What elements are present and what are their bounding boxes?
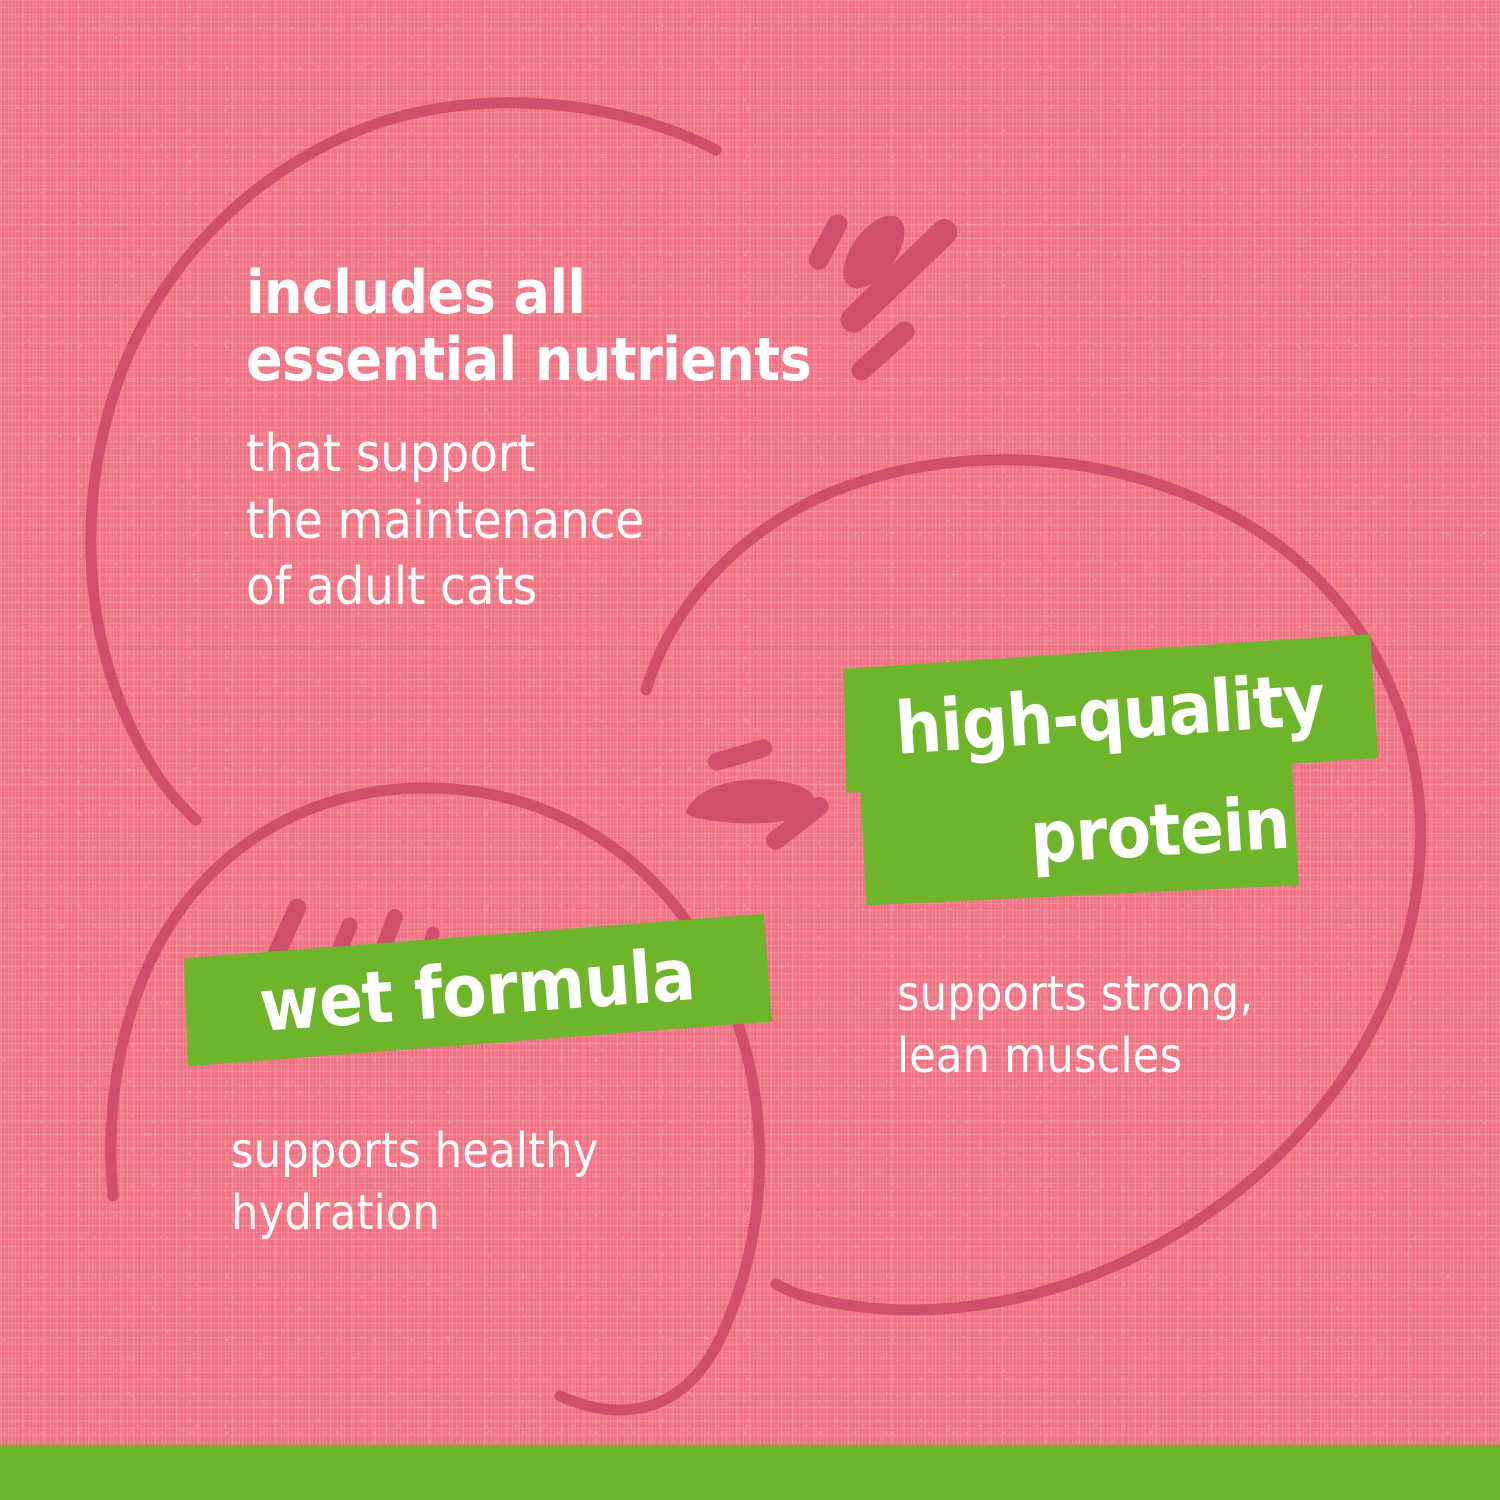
circle-bottom-left-icon [111,788,760,1410]
badge-high-quality-protein: high-quality protein [840,640,1380,910]
bottom-green-bar [0,1445,1500,1500]
benefit-hydration-text-block: supports healthy hydration [231,1120,661,1245]
badge-wet-formula: wet formula [184,930,774,1070]
benefit-nutrients-text-block: includes all essential nutrients that su… [246,243,866,638]
infographic-canvas: includes all essential nutrients that su… [0,0,1500,1500]
badge-protein-line2: protein [860,760,1299,905]
benefit-nutrients-headline: includes all essential nutrients [246,260,866,394]
badge-wet-formula-block: wet formula [181,914,773,1067]
benefit-muscles-text-block: supports strong, lean muscles [897,963,1327,1088]
badge-wet-formula-label: wet formula [257,932,698,1048]
sparkle-middle-icon [686,737,832,853]
benefit-nutrients-subline: that support the maintenance of adult ca… [246,421,866,621]
badge-protein-line2-label: protein [1028,781,1292,880]
badge-protein-line1-label: high-quality [892,657,1326,771]
